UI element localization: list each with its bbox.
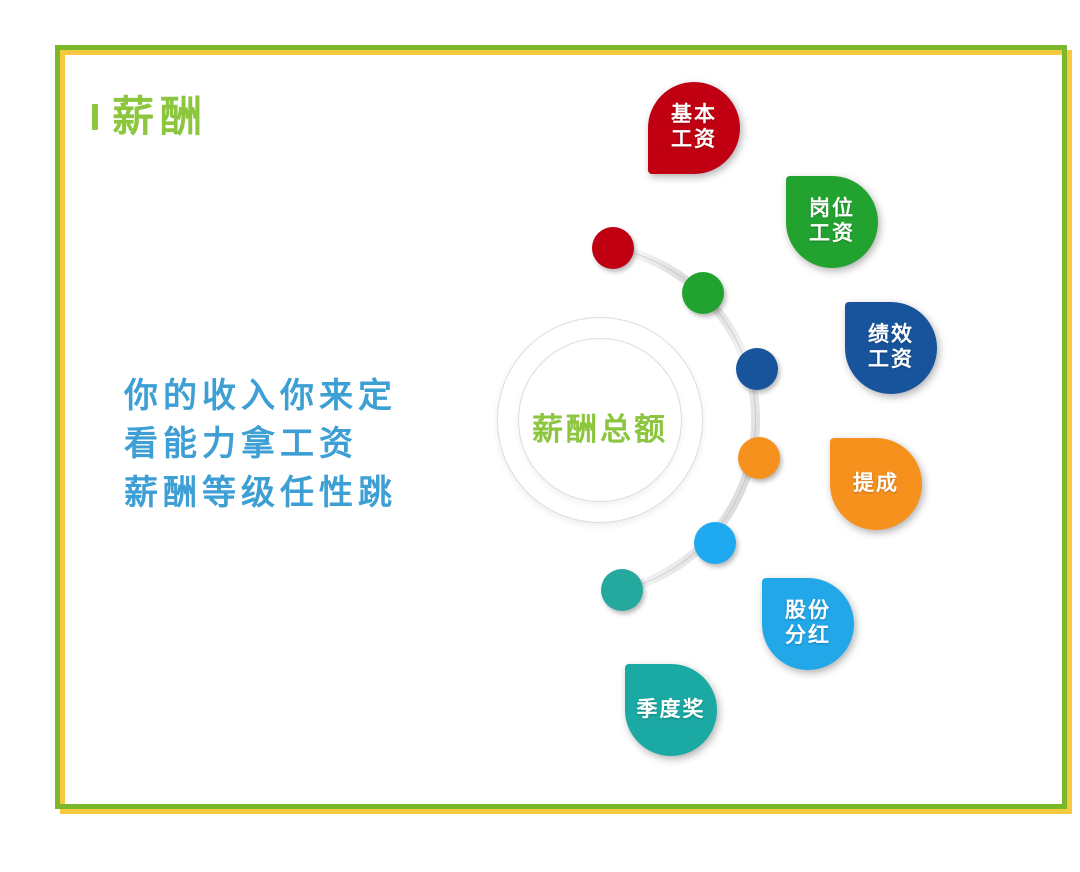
slogan-line-2: 看能力拿工资 bbox=[124, 420, 444, 468]
badge-share-dividend[interactable]: 股份 分红 bbox=[762, 578, 854, 670]
node-dot-post-salary[interactable] bbox=[682, 272, 724, 314]
slogan-block: 你的收入你来定 看能力拿工资 薪酬等级任性跳 bbox=[124, 372, 444, 517]
title-text: 薪酬 bbox=[112, 96, 208, 138]
title-bullet-icon bbox=[92, 104, 98, 130]
node-dot-performance-salary[interactable] bbox=[736, 348, 778, 390]
slogan-line-1: 你的收入你来定 bbox=[124, 372, 444, 420]
slogan-line-3: 薪酬等级任性跳 bbox=[124, 469, 444, 517]
page-title: 薪酬 bbox=[92, 96, 208, 138]
badge-label-commission: 提成 bbox=[853, 472, 899, 497]
badge-quarterly-bonus[interactable]: 季度奖 bbox=[625, 664, 717, 756]
badge-label-basic-salary: 基本 工资 bbox=[671, 103, 717, 153]
badge-label-quarterly-bonus: 季度奖 bbox=[637, 698, 706, 723]
badge-basic-salary[interactable]: 基本 工资 bbox=[648, 82, 740, 174]
node-dot-commission[interactable] bbox=[738, 437, 780, 479]
badge-label-performance-salary: 绩效 工资 bbox=[868, 323, 914, 373]
badge-label-share-dividend: 股份 分红 bbox=[785, 599, 831, 649]
badge-post-salary[interactable]: 岗位 工资 bbox=[786, 176, 878, 268]
node-dot-quarterly-bonus[interactable] bbox=[601, 569, 643, 611]
badge-performance-salary[interactable]: 绩效 工资 bbox=[845, 302, 937, 394]
node-dot-basic-salary[interactable] bbox=[592, 227, 634, 269]
node-dot-share-dividend[interactable] bbox=[694, 522, 736, 564]
badge-commission[interactable]: 提成 bbox=[830, 438, 922, 530]
center-total-label: 薪酬总额 bbox=[500, 404, 700, 449]
badge-label-post-salary: 岗位 工资 bbox=[809, 197, 855, 247]
slide-canvas: 薪酬 你的收入你来定 看能力拿工资 薪酬等级任性跳 薪酬总额 基本 工资 bbox=[0, 0, 1080, 872]
